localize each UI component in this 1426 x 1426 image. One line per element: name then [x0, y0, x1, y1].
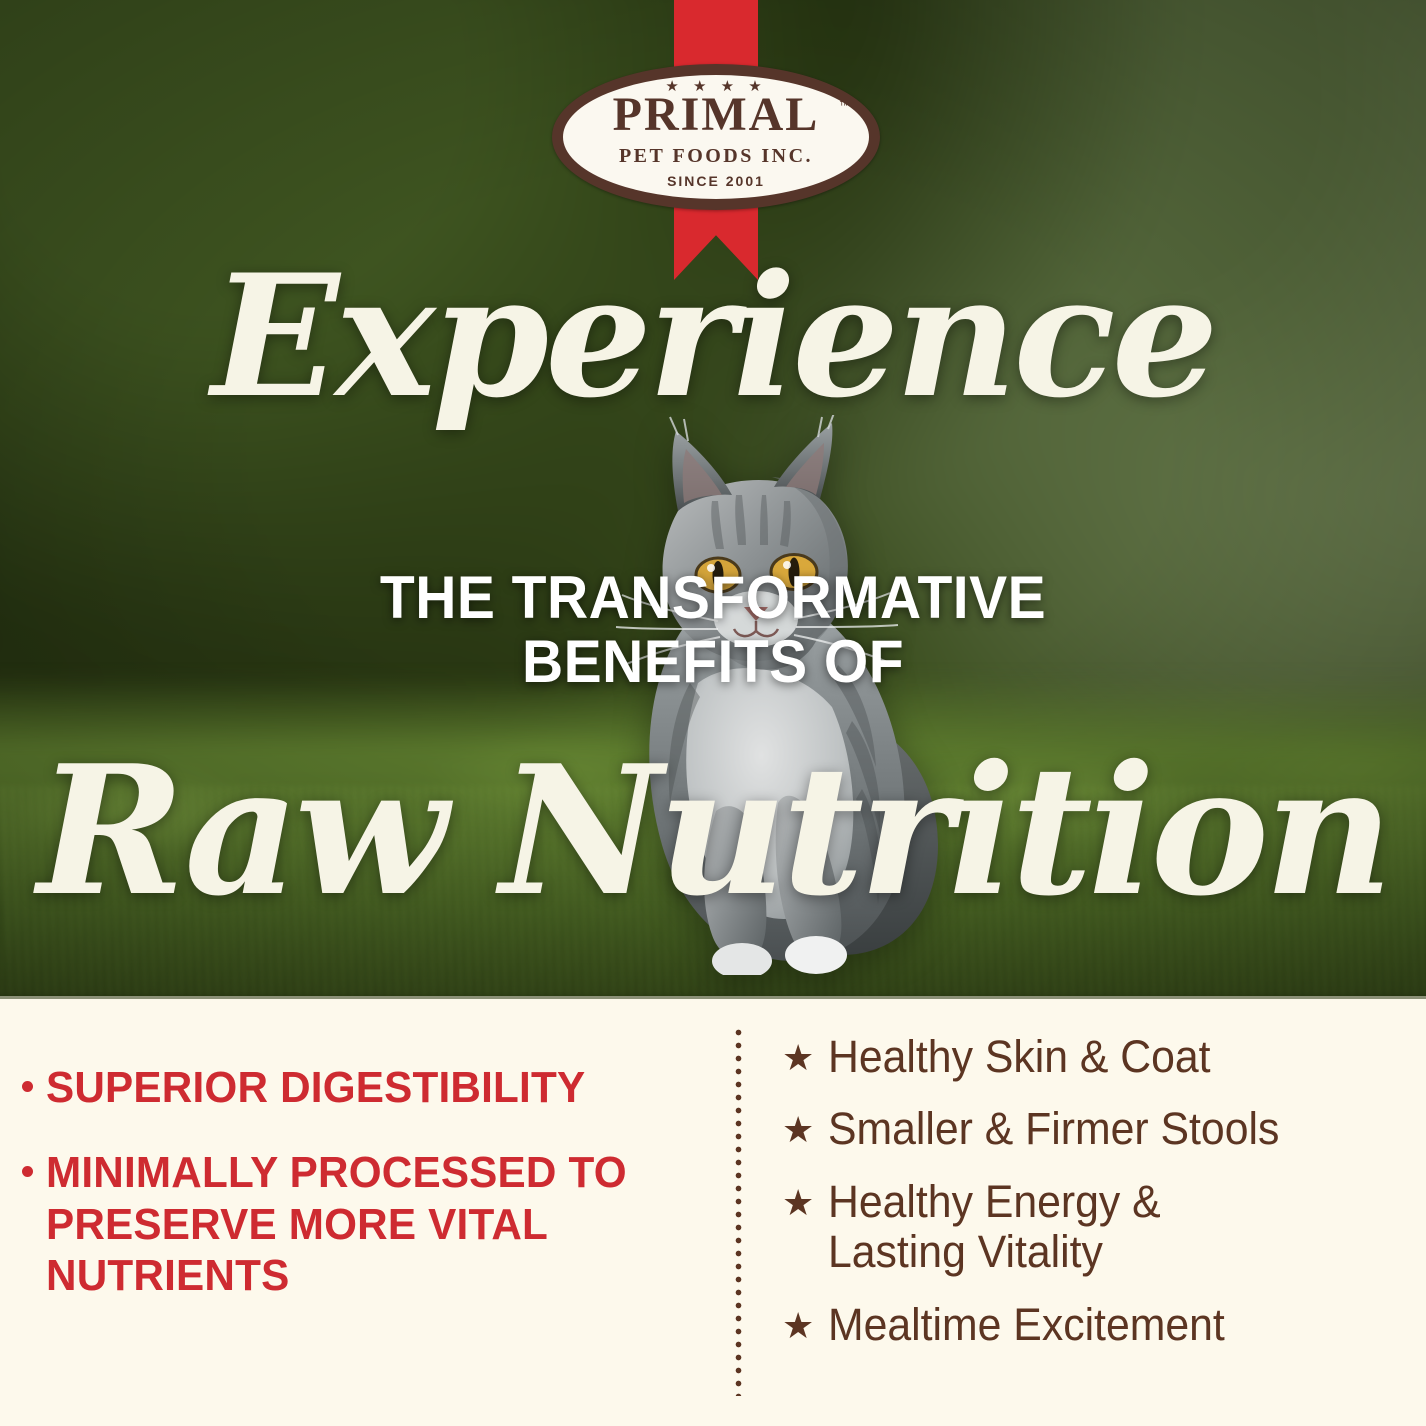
- list-item: ★ Smaller & Firmer Stools: [782, 1104, 1412, 1154]
- marketing-banner: ★ ★ ★ ★ PRIMAL ™ PET FOODS INC. SINCE 20…: [0, 0, 1426, 1426]
- list-item: ★ Healthy Skin & Coat: [782, 1032, 1412, 1082]
- bullet-label: SUPERIOR DIGESTIBILITY: [46, 1062, 585, 1113]
- panel-divider-line: [0, 996, 1426, 999]
- list-item: SUPERIOR DIGESTIBILITY: [22, 1062, 702, 1113]
- benefit-label: Healthy Energy & Lasting Vitality: [828, 1177, 1161, 1278]
- left-bullet-column: SUPERIOR DIGESTIBILITY MINIMALLY PROCESS…: [22, 1062, 702, 1336]
- benefit-label: Healthy Skin & Coat: [828, 1032, 1211, 1082]
- bullet-dot-icon: [22, 1166, 33, 1177]
- hero-photo: ★ ★ ★ ★ PRIMAL ™ PET FOODS INC. SINCE 20…: [0, 0, 1426, 996]
- benefits-panel: SUPERIOR DIGESTIBILITY MINIMALLY PROCESS…: [0, 996, 1426, 1426]
- star-icon: ★: [782, 1040, 814, 1076]
- trademark-symbol: ™: [839, 100, 850, 112]
- star-icon: ★: [782, 1185, 814, 1221]
- primal-logo: ★ ★ ★ ★ PRIMAL ™ PET FOODS INC. SINCE 20…: [552, 64, 880, 210]
- logo-subtitle: PET FOODS INC.: [552, 146, 880, 166]
- dotted-vertical-divider: [734, 1026, 743, 1396]
- bullet-label: MINIMALLY PROCESSED TO PRESERVE MORE VIT…: [46, 1147, 676, 1301]
- headline-raw-nutrition: Raw Nutrition: [0, 742, 1426, 920]
- list-item: ★ Healthy Energy & Lasting Vitality: [782, 1177, 1412, 1278]
- list-item: MINIMALLY PROCESSED TO PRESERVE MORE VIT…: [22, 1147, 702, 1301]
- right-benefits-column: ★ Healthy Skin & Coat ★ Smaller & Firmer…: [782, 1032, 1412, 1372]
- logo-brand-name: PRIMAL: [552, 91, 880, 139]
- subheadline: THE TRANSFORMATIVE BENEFITS OF: [36, 566, 1391, 694]
- subheadline-line-1: THE TRANSFORMATIVE: [36, 566, 1391, 630]
- star-icon: ★: [782, 1112, 814, 1148]
- bullet-dot-icon: [22, 1081, 33, 1092]
- list-item: ★ Mealtime Excitement: [782, 1300, 1412, 1350]
- subheadline-line-2: BENEFITS OF: [36, 630, 1391, 694]
- benefit-label: Mealtime Excitement: [828, 1300, 1225, 1350]
- benefit-label: Smaller & Firmer Stools: [828, 1104, 1279, 1154]
- headline-experience: Experience: [0, 252, 1426, 420]
- logo-since-text: SINCE 2001: [552, 174, 880, 188]
- star-icon: ★: [782, 1308, 814, 1344]
